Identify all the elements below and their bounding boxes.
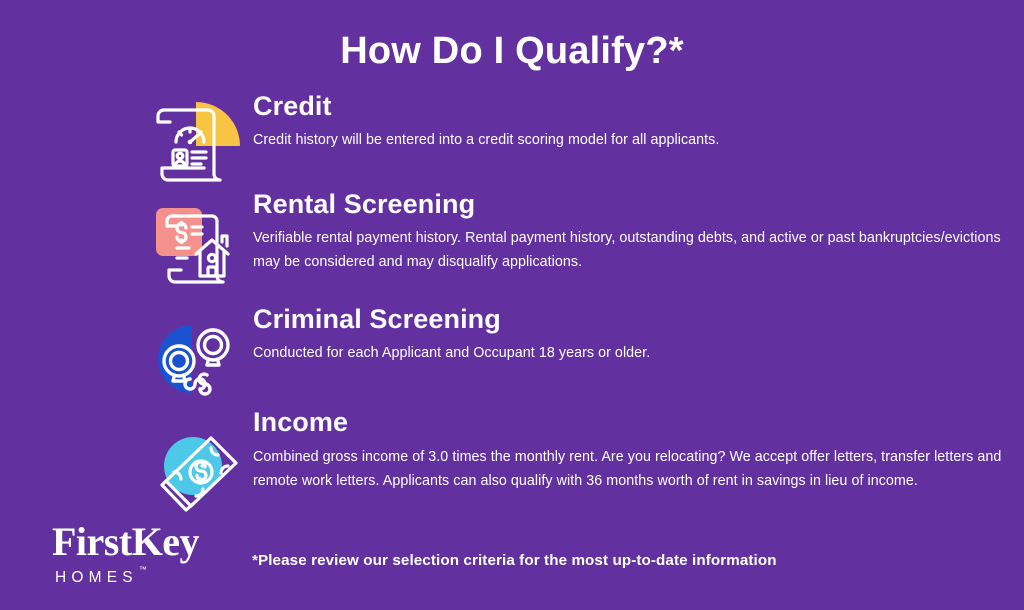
rental-text-block: Rental Screening Verifiable rental payme… xyxy=(253,190,1003,274)
criminal-heading: Criminal Screening xyxy=(253,305,1003,333)
rental-heading: Rental Screening xyxy=(253,190,1003,218)
criminal-text-block: Criminal Screening Conducted for each Ap… xyxy=(253,305,1003,366)
logo-subtitle: HOMES™ xyxy=(55,569,146,587)
criminal-body: Conducted for each Applicant and Occupan… xyxy=(253,342,1003,365)
credit-heading: Credit xyxy=(253,92,1003,120)
logo-wordmark: FirstKey xyxy=(52,522,252,562)
money-bills-icon xyxy=(148,422,244,518)
credit-text-block: Credit Credit history will be entered in… xyxy=(253,92,1003,153)
credit-body: Credit history will be entered into a cr… xyxy=(253,129,1003,152)
income-body: Combined gross income of 3.0 times the m… xyxy=(253,446,1003,493)
logo-subtitle-text: HOMES xyxy=(55,569,138,586)
income-heading: Income xyxy=(253,408,1003,436)
page-title: How Do I Qualify?* xyxy=(0,30,1024,73)
rent-receipt-house-icon xyxy=(148,196,244,292)
trademark-symbol: ™ xyxy=(139,565,147,574)
rental-body: Verifiable rental payment history. Renta… xyxy=(253,227,1003,274)
handcuffs-icon xyxy=(148,313,244,409)
income-text-block: Income Combined gross income of 3.0 time… xyxy=(253,408,1003,493)
firstkey-homes-logo: FirstKey HOMES™ xyxy=(52,522,252,587)
credit-report-document-icon xyxy=(148,94,244,190)
qualification-infographic: How Do I Qualify?* Cr xyxy=(0,0,1024,610)
footnote-text: *Please review our selection criteria fo… xyxy=(252,552,777,569)
